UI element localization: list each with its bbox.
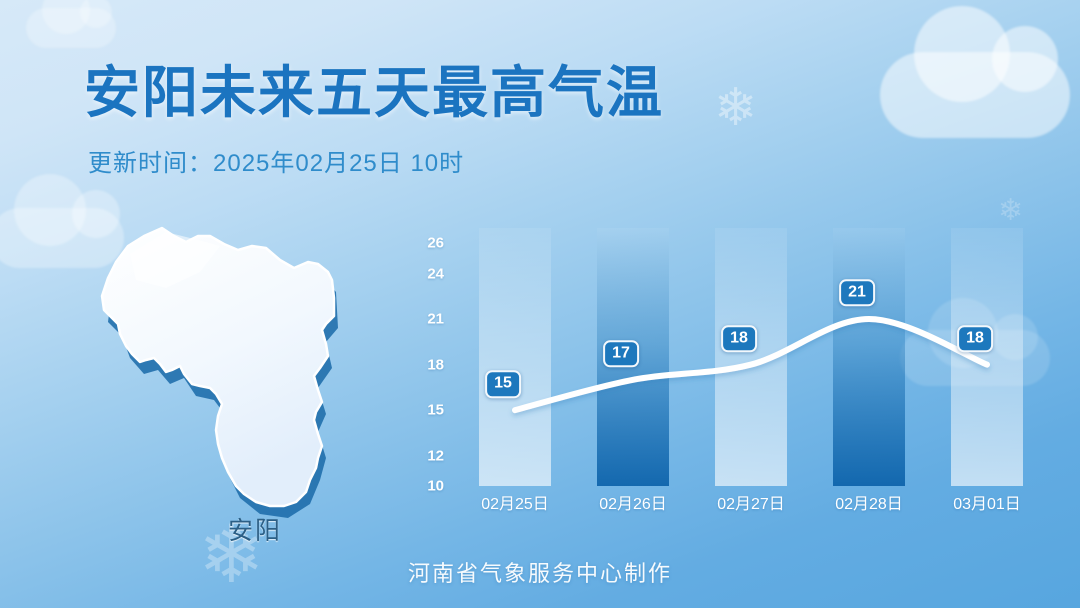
cloud-icon (880, 52, 1070, 138)
page-title: 安阳未来五天最高气温 (84, 48, 664, 129)
y-axis-tick: 10 (427, 478, 444, 495)
y-axis-tick: 15 (427, 402, 444, 419)
x-axis-tick: 02月27日 (696, 490, 806, 514)
value-badge: 21 (839, 279, 875, 306)
temperature-line (456, 228, 1046, 486)
y-axis: 26242118151210 (408, 228, 444, 486)
x-axis-tick: 02月26日 (578, 490, 688, 514)
y-axis-tick: 24 (427, 265, 444, 282)
map-shape (70, 206, 390, 556)
header: 安阳未来五天最高气温 更新时间：2025年02月25日 10时 (84, 48, 664, 178)
x-axis-tick: 02月28日 (814, 490, 924, 514)
map-region-label: 安阳 (228, 511, 282, 547)
plot-area: 1517182118 (456, 228, 1046, 486)
snowflake-icon: ❄ (714, 82, 758, 134)
value-badge: 15 (485, 370, 521, 397)
update-time-text: 更新时间：2025年02月25日 10时 (88, 143, 664, 178)
x-axis-tick: 02月25日 (460, 490, 570, 514)
cloud-icon (26, 8, 116, 48)
y-axis-tick: 26 (427, 235, 444, 252)
value-badge: 17 (603, 340, 639, 367)
footer-credit: 河南省气象服务中心制作 (0, 556, 1080, 588)
value-badge: 18 (721, 325, 757, 352)
y-axis-tick: 21 (427, 311, 444, 328)
x-axis: 02月25日02月26日02月27日02月28日03月01日 (456, 490, 1046, 518)
y-axis-tick: 12 (427, 447, 444, 464)
snowflake-icon: ❄ (998, 196, 1023, 226)
x-axis-tick: 03月01日 (932, 490, 1042, 514)
anyang-map: 安阳 (70, 206, 390, 556)
temperature-chart: 26242118151210 1517182118 02月25日02月26日02… (408, 228, 1048, 518)
value-badge: 18 (957, 325, 993, 352)
weather-forecast-graphic: ❄ ❄ ❄ ❄ 安阳未来五天最高气温 更新时间：2025年02月25日 10时 (0, 0, 1080, 608)
y-axis-tick: 18 (427, 356, 444, 373)
